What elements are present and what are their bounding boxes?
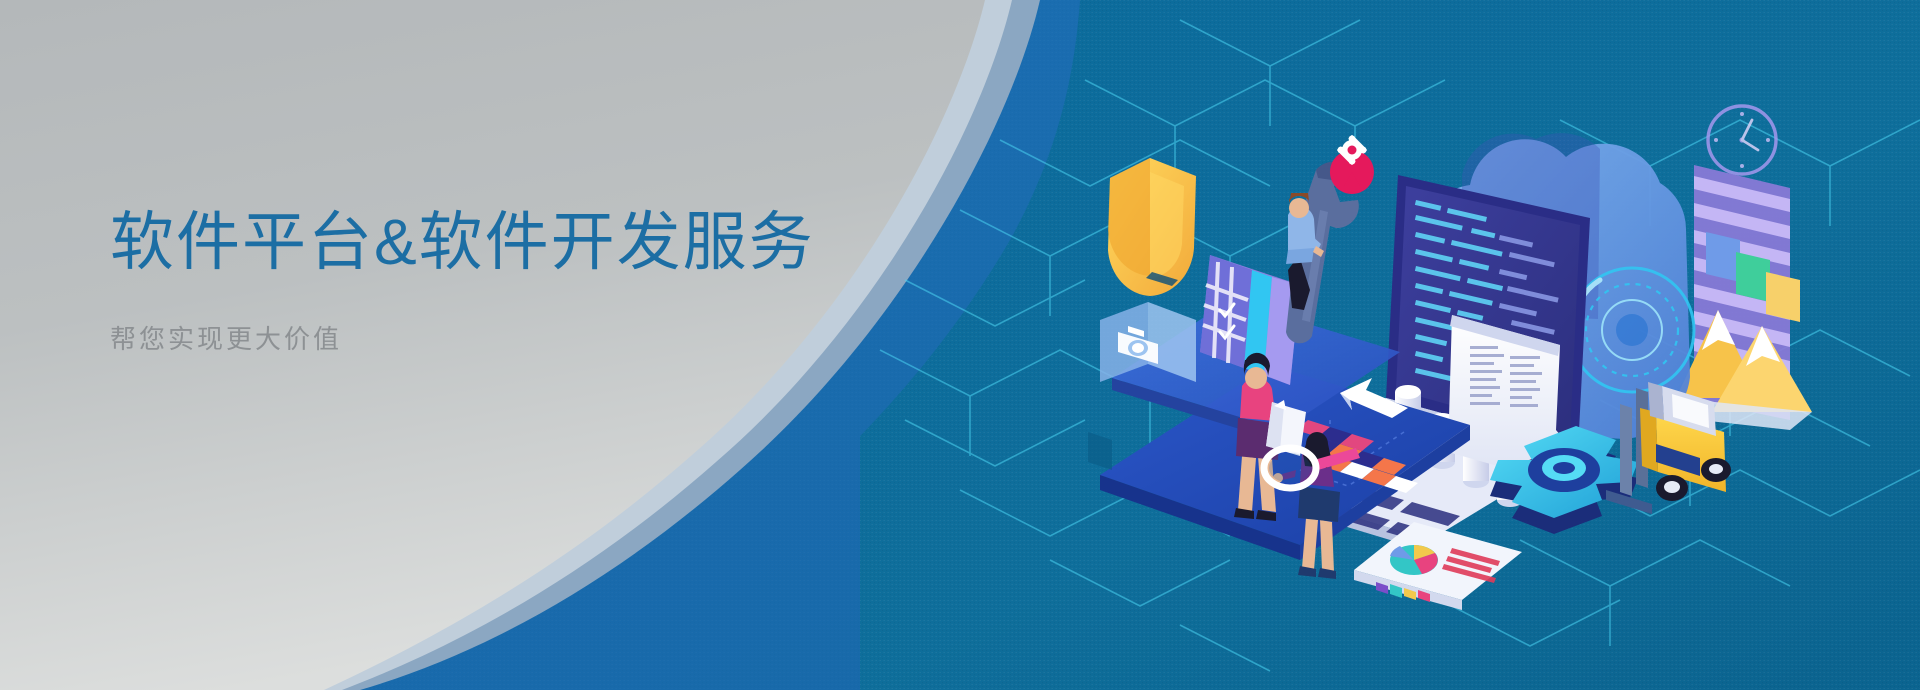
hero-banner: 软件平台&软件开发服务 帮您实现更大价值: [0, 0, 1920, 690]
page-title: 软件平台&软件开发服务: [110, 205, 815, 281]
page-subtitle: 帮您实现更大价值: [110, 319, 815, 356]
hero-text-block: 软件平台&软件开发服务 帮您实现更大价值: [110, 205, 815, 356]
